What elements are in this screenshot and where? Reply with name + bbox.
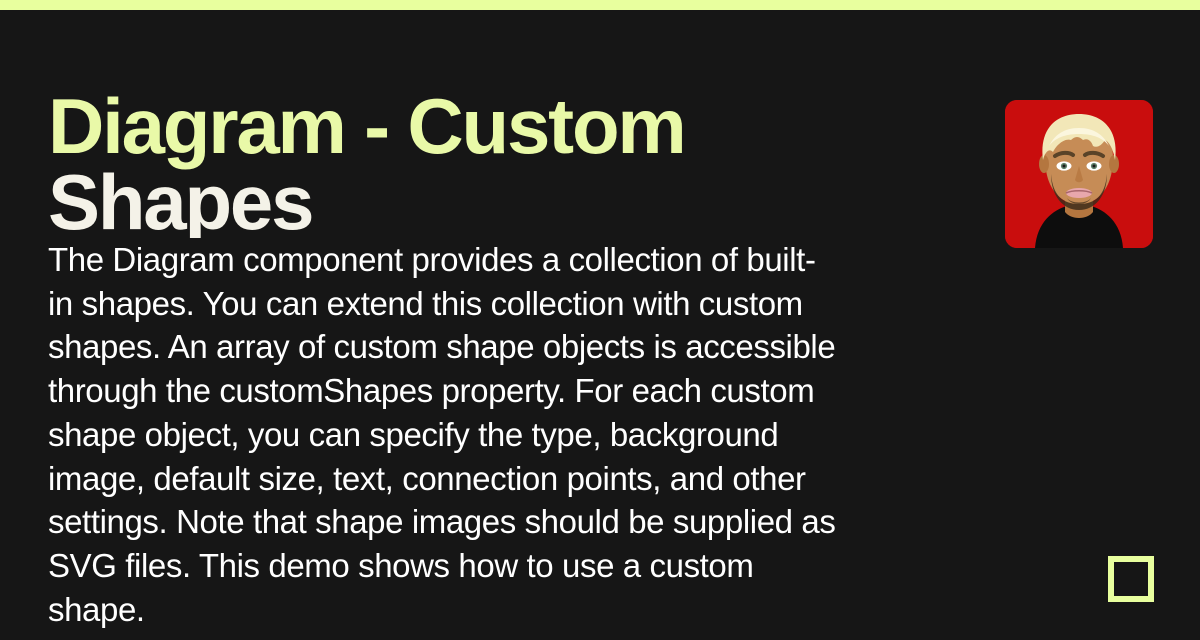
page-content: Diagram - CustomShapes The Diagram compo…: [0, 10, 1200, 640]
description-paragraph: The Diagram component provides a collect…: [48, 238, 838, 631]
avatar: [1005, 100, 1153, 248]
page-title-line-2: Shapes: [48, 158, 312, 246]
square-outline-icon[interactable]: [1108, 556, 1154, 602]
accent-bar: [0, 0, 1200, 10]
page-title-line-1: Diagram - Custom: [48, 82, 685, 170]
avatar-portrait-icon: [1005, 100, 1153, 248]
page-title: Diagram - CustomShapes: [48, 88, 748, 241]
